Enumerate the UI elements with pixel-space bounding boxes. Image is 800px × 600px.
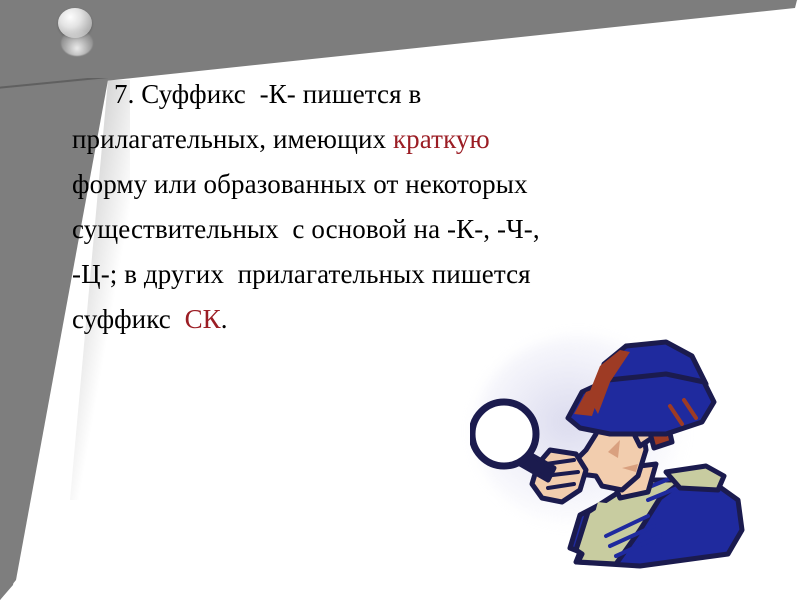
plain-text: -Ц-; в других прилагательных пишется [72, 259, 531, 289]
magnifier-lens [472, 402, 536, 466]
accent-text: краткую [393, 124, 490, 154]
text-line-2: прилагательных, имеющих краткую [72, 117, 712, 162]
plain-text: 7. Суффикс -К- пишется в [114, 79, 421, 109]
plain-text: суффикс [72, 304, 185, 334]
plain-text: существительных с основой на -К-, -Ч-, [72, 214, 540, 244]
sphere-decoration [54, 8, 102, 70]
text-line-1: 7. Суффикс -К- пишется в [72, 72, 712, 117]
detective-illustration [470, 330, 770, 580]
text-line-4: существительных с основой на -К-, -Ч-, [72, 207, 712, 252]
text-line-3: форму или образованных от некоторых [72, 162, 712, 207]
sphere-reflection-icon [61, 30, 93, 56]
detective-svg [470, 330, 770, 580]
slide-body-text: 7. Суффикс -К- пишется вприлагательных, … [72, 72, 712, 342]
slide-canvas: 7. Суффикс -К- пишется вприлагательных, … [0, 0, 800, 600]
text-line-5: -Ц-; в других прилагательных пишется [72, 252, 712, 297]
plain-text: прилагательных, имеющих [72, 124, 393, 154]
accent-text: СК [185, 304, 221, 334]
plain-text: . [221, 304, 228, 334]
plain-text: форму или образованных от некоторых [72, 169, 528, 199]
